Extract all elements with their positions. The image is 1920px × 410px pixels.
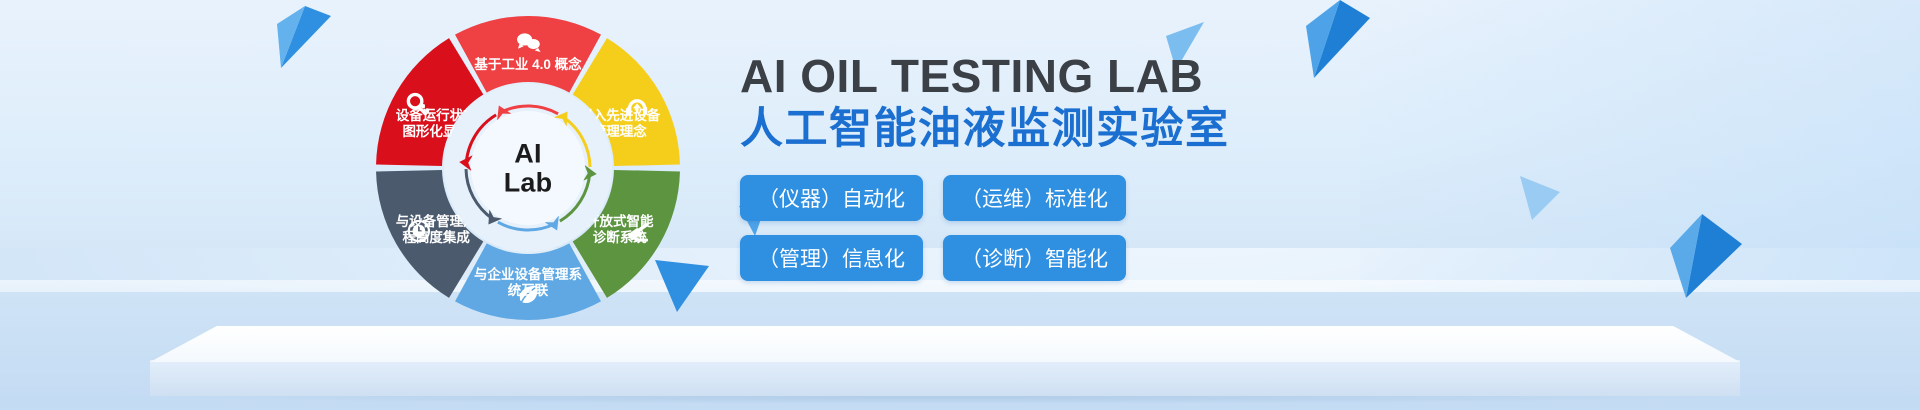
- triangle-right-upper: [1520, 176, 1560, 220]
- wheel-segment-enterprise-link[interactable]: 与企业设备管理系统互联: [455, 243, 601, 320]
- segment-label: 与企业设备管理系: [474, 266, 582, 282]
- wheel-center-disc: [471, 111, 585, 225]
- feature-tag[interactable]: （运维）标准化: [943, 175, 1126, 221]
- promo-banner: 基于工业 4.0 概念嵌入先进设备管理理念开放式智能诊断系统与企业设备管理系统互…: [0, 0, 1920, 410]
- triangle-top-left: [275, 6, 331, 68]
- segment-label: 统互联: [508, 282, 549, 298]
- pedestal-top: [150, 326, 1740, 362]
- capability-wheel: 基于工业 4.0 概念嵌入先进设备管理理念开放式智能诊断系统与企业设备管理系统互…: [368, 8, 688, 328]
- segment-label: 诊断系统: [593, 229, 647, 245]
- banner-text-block: AI OIL TESTING LAB 人工智能油液监测实验室 （仪器）自动化（运…: [740, 52, 1440, 281]
- feature-tag[interactable]: （诊断）智能化: [943, 235, 1126, 281]
- wheel-segment-industry40[interactable]: 基于工业 4.0 概念: [455, 16, 601, 93]
- pedestal-face: [150, 360, 1740, 396]
- feature-tag-list: （仪器）自动化（运维）标准化（管理）信息化（诊断）智能化: [740, 175, 1210, 281]
- triangle-right-lower: [1668, 214, 1742, 298]
- segment-shape: [455, 16, 601, 93]
- segment-label: 基于工业 4.0 概念: [474, 56, 582, 72]
- segment-label: 程高度集成: [402, 229, 470, 245]
- banner-title-chinese: 人工智能油液监测实验室: [740, 105, 1440, 153]
- feature-tag[interactable]: （管理）信息化: [740, 235, 923, 281]
- banner-title-english: AI OIL TESTING LAB: [740, 52, 1440, 102]
- feature-tag[interactable]: （仪器）自动化: [740, 175, 923, 221]
